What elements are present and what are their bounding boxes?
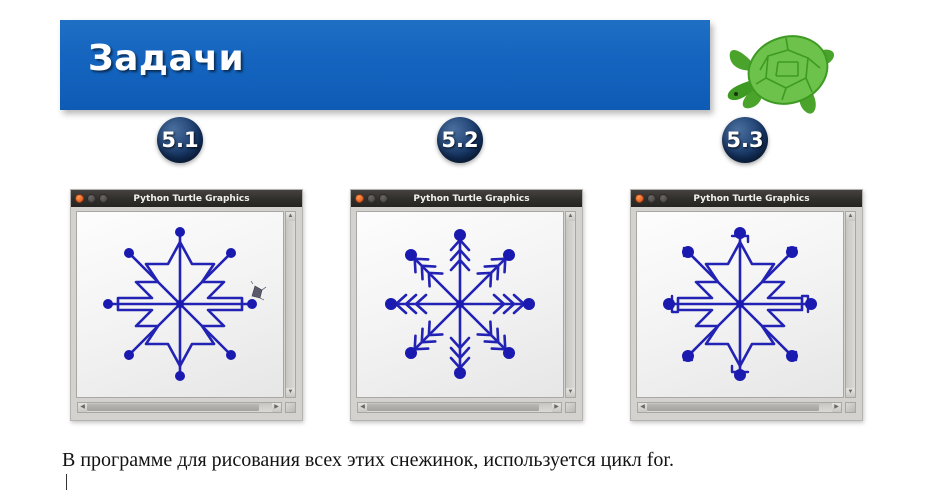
resize-grip[interactable] (285, 402, 296, 413)
scroll-thumb[interactable] (367, 404, 539, 411)
snowflake-arrow-barbs (357, 212, 563, 397)
turtle-canvas-area-3[interactable] (636, 211, 844, 398)
scroll-left-arrow[interactable]: ◀ (638, 403, 647, 412)
minimize-button[interactable] (87, 194, 96, 203)
vertical-scrollbar[interactable]: ▲ ▼ (285, 211, 296, 398)
scroll-right-arrow[interactable]: ▶ (272, 403, 281, 412)
caption-text: В программе для рисования всех этих снеж… (62, 449, 674, 472)
scroll-right-arrow[interactable]: ▶ (552, 403, 561, 412)
scroll-up-arrow[interactable]: ▲ (566, 212, 575, 221)
horizontal-scrollbar[interactable]: ◀ ▶ (637, 402, 842, 413)
maximize-button[interactable] (659, 194, 668, 203)
close-button[interactable] (355, 194, 364, 203)
maximize-button[interactable] (379, 194, 388, 203)
scroll-up-arrow[interactable]: ▲ (846, 212, 855, 221)
window-title: Python Turtle Graphics (111, 194, 302, 204)
scroll-up-arrow[interactable]: ▲ (286, 212, 295, 221)
snowflake-star-hooks (637, 212, 843, 397)
turtle-canvas-area-2[interactable] (356, 211, 564, 398)
sea-turtle-icon (716, 22, 846, 127)
badge-5-1: 5.1 (157, 117, 203, 163)
badge-5-3: 5.3 (722, 117, 768, 163)
scroll-thumb[interactable] (87, 404, 259, 411)
scroll-down-arrow[interactable]: ▼ (846, 388, 855, 397)
scroll-down-arrow[interactable]: ▼ (286, 388, 295, 397)
turtle-canvas-area-1[interactable] (76, 211, 284, 398)
minimize-button[interactable] (647, 194, 656, 203)
scroll-thumb[interactable] (647, 404, 819, 411)
scroll-down-arrow[interactable]: ▼ (566, 388, 575, 397)
text-cursor (66, 474, 67, 490)
turtle-window-3[interactable]: Python Turtle Graphics (630, 189, 863, 421)
window-title: Python Turtle Graphics (671, 194, 862, 204)
scroll-right-arrow[interactable]: ▶ (832, 403, 841, 412)
window-titlebar[interactable]: Python Turtle Graphics (631, 190, 862, 207)
horizontal-scrollbar[interactable]: ◀ ▶ (77, 402, 282, 413)
horizontal-scrollbar[interactable]: ◀ ▶ (357, 402, 562, 413)
window-titlebar[interactable]: Python Turtle Graphics (351, 190, 582, 207)
page-title: Задачи (88, 38, 244, 79)
turtle-cursor (251, 281, 266, 300)
resize-grip[interactable] (845, 402, 856, 413)
window-title: Python Turtle Graphics (391, 194, 582, 204)
scroll-left-arrow[interactable]: ◀ (358, 403, 367, 412)
resize-grip[interactable] (565, 402, 576, 413)
turtle-window-2[interactable]: Python Turtle Graphics (350, 189, 583, 421)
window-titlebar[interactable]: Python Turtle Graphics (71, 190, 302, 207)
slide-page: Задачи 5.1 5.2 5.3 (0, 0, 946, 494)
minimize-button[interactable] (367, 194, 376, 203)
close-button[interactable] (75, 194, 84, 203)
scroll-left-arrow[interactable]: ◀ (78, 403, 87, 412)
title-banner: Задачи (60, 20, 710, 110)
vertical-scrollbar[interactable]: ▲ ▼ (565, 211, 576, 398)
vertical-scrollbar[interactable]: ▲ ▼ (845, 211, 856, 398)
turtle-window-1[interactable]: Python Turtle Graphics (70, 189, 303, 421)
close-button[interactable] (635, 194, 644, 203)
snowflake-star-zigzag (77, 212, 283, 397)
maximize-button[interactable] (99, 194, 108, 203)
badge-5-2: 5.2 (437, 117, 483, 163)
